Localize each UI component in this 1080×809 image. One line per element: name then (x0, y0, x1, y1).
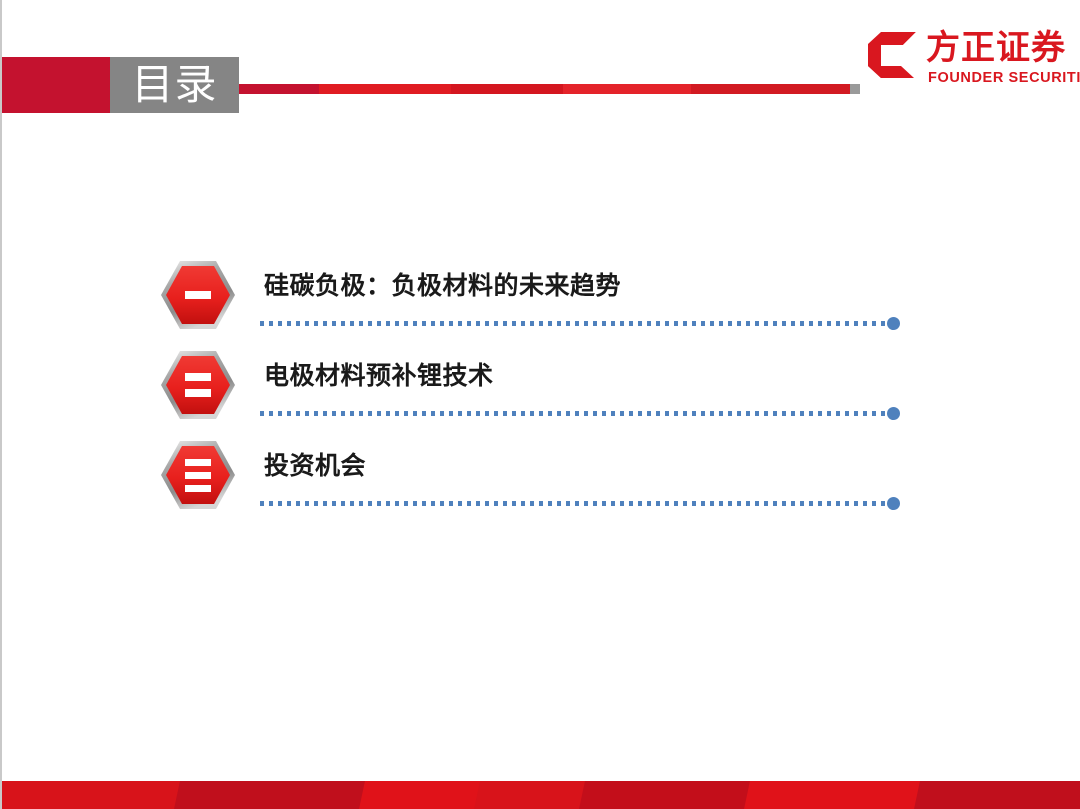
toc-item-label: 硅碳负极：负极材料的未来趋势 (264, 269, 621, 303)
footer-band (2, 781, 1080, 809)
toc-leader-end-dot (887, 407, 900, 420)
toc-leader-dots (260, 411, 888, 416)
toc-item-label: 电极材料预补锂技术 (264, 359, 494, 393)
toc-leader-end-dot (887, 497, 900, 510)
footer-segment (473, 781, 591, 809)
footer-segment (913, 781, 1080, 809)
hexagon-number-badge-icon (160, 350, 236, 420)
presentation-slide: 目录 方正证券 FOUNDER SECURITIES (0, 0, 1080, 809)
hexagon-number-badge-icon (160, 440, 236, 510)
hexagon-number-badge-icon (160, 260, 236, 330)
toc-leader-end-dot (887, 317, 900, 330)
toc-item-label: 投资机会 (264, 449, 366, 483)
table-of-contents-list: 硅碳负极：负极材料的未来趋势 (2, 0, 1080, 809)
toc-leader-dots (260, 321, 888, 326)
footer-segment (578, 781, 756, 809)
footer-segment (2, 781, 186, 809)
footer-segment (173, 781, 371, 809)
toc-leader-dots (260, 501, 888, 506)
footer-segment (743, 781, 926, 809)
footer-segment (358, 781, 486, 809)
